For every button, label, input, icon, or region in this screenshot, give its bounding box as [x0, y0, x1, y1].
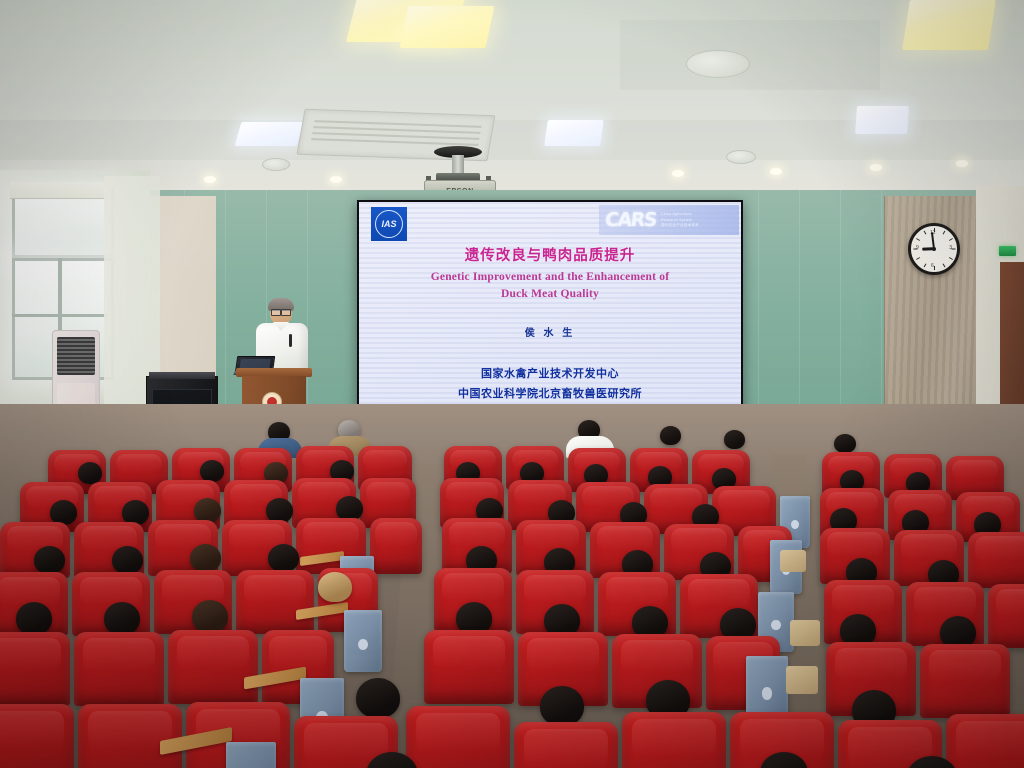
attendee-head	[660, 426, 681, 445]
seat[interactable]	[370, 518, 422, 574]
attendee-head	[200, 460, 224, 482]
cars-logo-mark: CARS	[604, 209, 657, 231]
downlight	[204, 176, 216, 183]
downlight	[870, 164, 882, 171]
window-blind[interactable]	[10, 182, 110, 199]
ceiling-light-panel	[902, 0, 996, 50]
ceiling-speaker	[686, 50, 750, 78]
seat[interactable]	[168, 630, 258, 704]
slide-title-english-line-1: Genetic Improvement and the Enhancement …	[359, 269, 741, 286]
attendee-head	[356, 678, 400, 718]
projection-screen: IAS CARS China Agriculture Research Syst…	[357, 200, 743, 416]
slide-title-english-line-2: Duck Meat Quality	[359, 286, 741, 303]
ceiling-speaker	[726, 150, 756, 164]
ac-grille	[57, 337, 95, 375]
seat-side-panel	[344, 610, 382, 672]
cars-logo-line-1: China Agriculture	[661, 212, 699, 216]
downlight	[330, 176, 342, 183]
handbag	[780, 550, 806, 572]
attendee-head	[78, 462, 102, 484]
slide-speaker-name: 侯 水 生	[359, 324, 741, 339]
attendee-head	[192, 600, 228, 633]
seat[interactable]	[74, 632, 164, 706]
slide-title-chinese: 遗传改良与鸭肉品质提升	[359, 244, 741, 265]
clock-numeral-3: 3	[949, 245, 952, 251]
presenter-glasses	[271, 309, 291, 314]
ceiling-light-panel	[400, 6, 495, 48]
ceiling-light-panel	[235, 122, 304, 146]
ceiling-light-panel	[544, 120, 604, 146]
lecture-hall-photo: EPSON 12 3	[0, 0, 1024, 768]
slide-organisation: 国家水禽产业技术开发中心 中国农业科学院北京畜牧兽医研究所	[359, 365, 741, 404]
clock-center-pin	[932, 247, 936, 251]
slide-title-english: Genetic Improvement and the Enhancement …	[359, 269, 741, 302]
attendee-head	[190, 544, 221, 572]
attendee-head	[834, 434, 856, 453]
attendee-head	[104, 602, 140, 635]
ceiling-speaker	[262, 158, 290, 171]
clock-numeral-9: 9	[916, 245, 919, 251]
attendee-head	[318, 572, 352, 602]
slide-org-line-2: 中国农业科学院北京畜牧兽医研究所	[359, 385, 741, 404]
seat[interactable]	[0, 632, 70, 706]
attendee-head	[34, 546, 65, 574]
cars-logo-lines: China Agriculture Research System 现代农业产业…	[661, 212, 699, 227]
downlight	[956, 160, 968, 167]
attendee-head	[540, 686, 584, 726]
clock-numeral-6: 6	[931, 263, 934, 269]
audience-seating	[0, 404, 1024, 768]
seat[interactable]	[424, 630, 514, 704]
handbag	[790, 620, 820, 646]
downlight	[770, 168, 782, 175]
microphone	[289, 334, 292, 347]
seat[interactable]	[988, 584, 1024, 648]
handbag	[786, 666, 818, 694]
wall-clock: 12 3 6 9	[908, 223, 960, 275]
attendee-head	[724, 430, 745, 449]
slide-surface: IAS CARS China Agriculture Research Syst…	[359, 202, 741, 414]
exit-sign	[999, 246, 1016, 256]
seat[interactable]	[968, 532, 1024, 588]
ceiling-light-panel	[855, 106, 909, 134]
seat[interactable]	[920, 644, 1010, 718]
slide-org-line-1: 国家水禽产业技术开发中心	[359, 365, 741, 384]
attendee-head	[112, 546, 143, 574]
seat[interactable]	[406, 706, 510, 768]
seat[interactable]	[946, 714, 1024, 768]
seat[interactable]	[514, 722, 618, 768]
cars-logo-line-2: Research System	[661, 218, 699, 222]
seat[interactable]	[78, 704, 182, 768]
institute-logo-icon: IAS	[371, 207, 407, 241]
slide-content: 遗传改良与鸭肉品质提升 Genetic Improvement and the …	[359, 244, 741, 414]
cars-logo-line-3: 现代农业产业技术体系	[661, 223, 699, 227]
institute-logo-text: IAS	[375, 210, 403, 238]
seat-side-panel	[226, 742, 276, 768]
attendee-head	[268, 544, 299, 572]
seat[interactable]	[236, 570, 314, 634]
attendee-head	[16, 602, 52, 635]
cars-logo: CARS China Agriculture Research System 现…	[599, 205, 739, 235]
downlight	[672, 170, 684, 177]
seat[interactable]	[0, 704, 74, 768]
seat[interactable]	[622, 712, 726, 768]
